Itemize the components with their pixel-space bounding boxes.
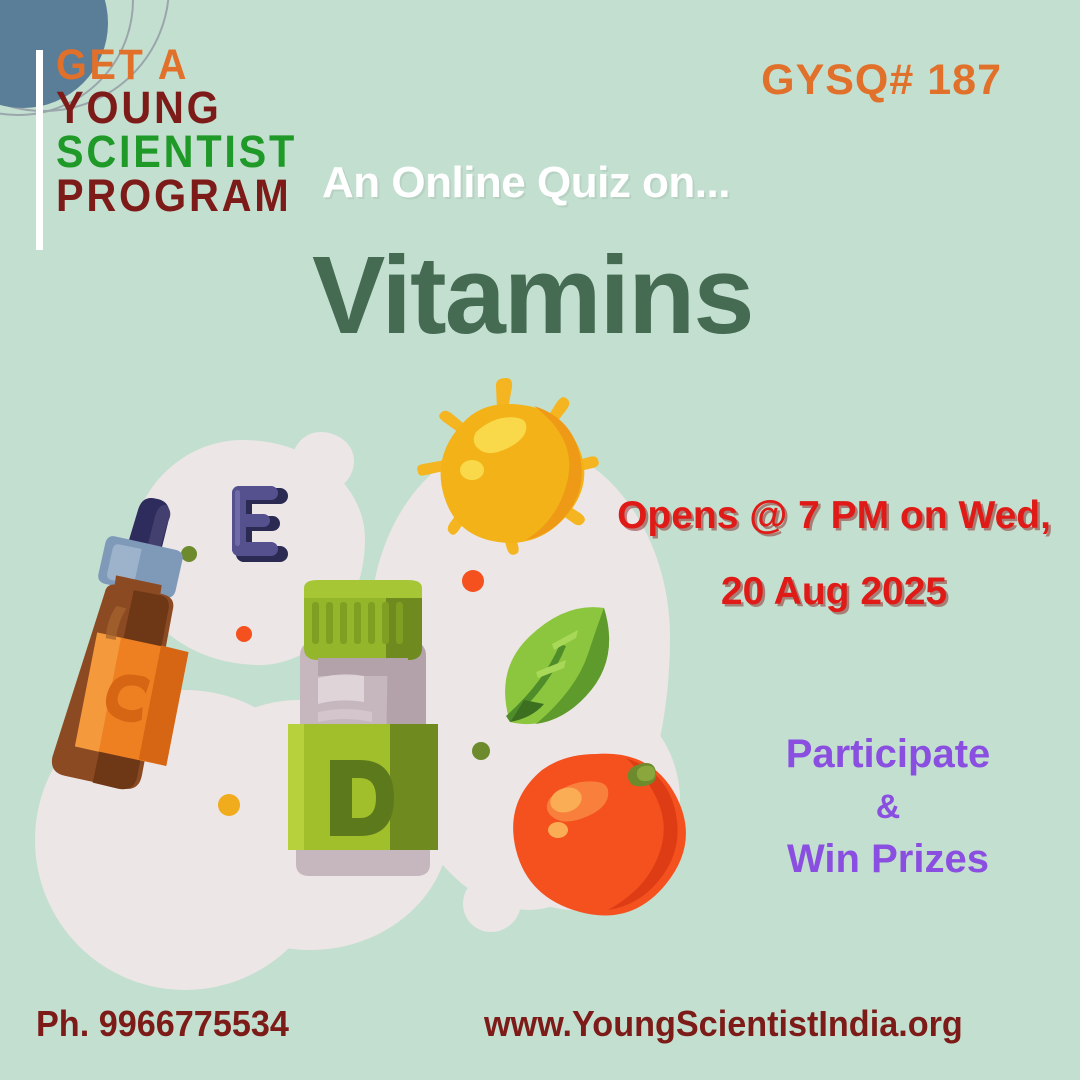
red-dot-1 bbox=[236, 626, 252, 642]
prizes-ampersand: & bbox=[718, 783, 1058, 831]
schedule-line-1: Opens @ 7 PM on Wed, bbox=[608, 478, 1060, 554]
poster-canvas: GET A YOUNG SCIENTIST PROGRAM GYSQ# 187 … bbox=[0, 0, 1080, 1080]
prizes-line-3: Win Prizes bbox=[718, 831, 1058, 888]
background-blob-small-top bbox=[292, 432, 354, 492]
brand-logo: GET A YOUNG SCIENTIST PROGRAM bbox=[56, 44, 318, 218]
leaf-illustration bbox=[500, 600, 620, 730]
olive-dot-2 bbox=[472, 742, 490, 760]
contact-phone: Ph. 9966775534 bbox=[36, 1003, 289, 1045]
vitamin-d-bottle-illustration bbox=[258, 572, 468, 897]
orange-fruit-illustration bbox=[508, 748, 688, 916]
vitamin-e-letter-illustration bbox=[222, 482, 298, 566]
sun-illustration bbox=[406, 372, 611, 572]
contact-website[interactable]: www.YoungScientistIndia.org bbox=[484, 1003, 963, 1045]
logo-line-1: GET A bbox=[56, 44, 297, 86]
vitamin-c-bottle-illustration bbox=[0, 488, 232, 833]
logo-divider-bar bbox=[36, 50, 43, 250]
logo-line-2: YOUNG bbox=[56, 86, 297, 130]
prizes-line-1: Participate bbox=[718, 726, 1058, 783]
logo-line-3: SCIENTIST bbox=[56, 130, 297, 174]
quiz-title: Vitamins bbox=[312, 232, 753, 359]
schedule-line-2: 20 Aug 2025 bbox=[608, 554, 1060, 630]
quiz-subtitle: An Online Quiz on... bbox=[322, 158, 730, 208]
prizes-block: Participate & Win Prizes bbox=[718, 726, 1058, 888]
quiz-number-badge: GYSQ# 187 bbox=[761, 56, 1002, 105]
logo-line-4: PROGRAM bbox=[56, 174, 297, 218]
schedule-block: Opens @ 7 PM on Wed, 20 Aug 2025 bbox=[608, 478, 1060, 630]
